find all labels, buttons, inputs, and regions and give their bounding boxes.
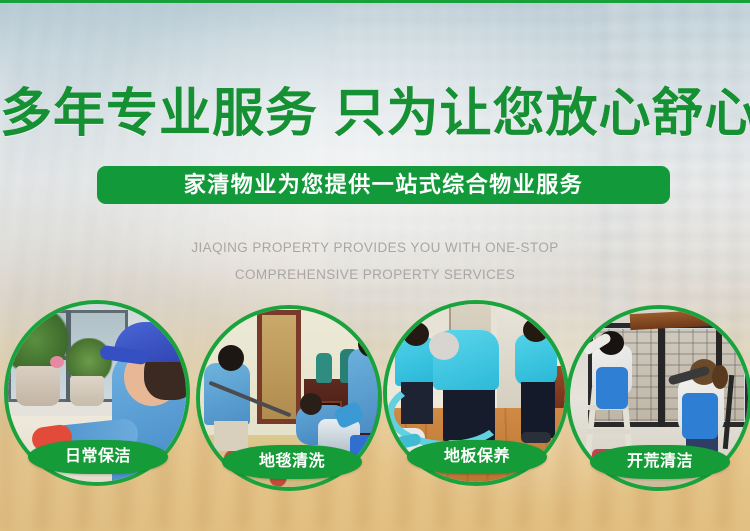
service-label-post-construction-cleaning[interactable]: 开荒清洁 <box>590 445 730 479</box>
promo-banner: 多年专业服务 只为让您放心舒心 家清物业为您提供一站式综合物业服务 JIAQIN… <box>0 0 750 531</box>
service-label-floor-maintenance[interactable]: 地板保养 <box>407 440 547 474</box>
service-card-list: 日常保洁 地毯清洗 地板保养 开荒清洁 <box>0 0 750 531</box>
service-label-daily-cleaning[interactable]: 日常保洁 <box>28 440 168 474</box>
service-label-carpet-cleaning[interactable]: 地毯清洗 <box>222 445 362 479</box>
